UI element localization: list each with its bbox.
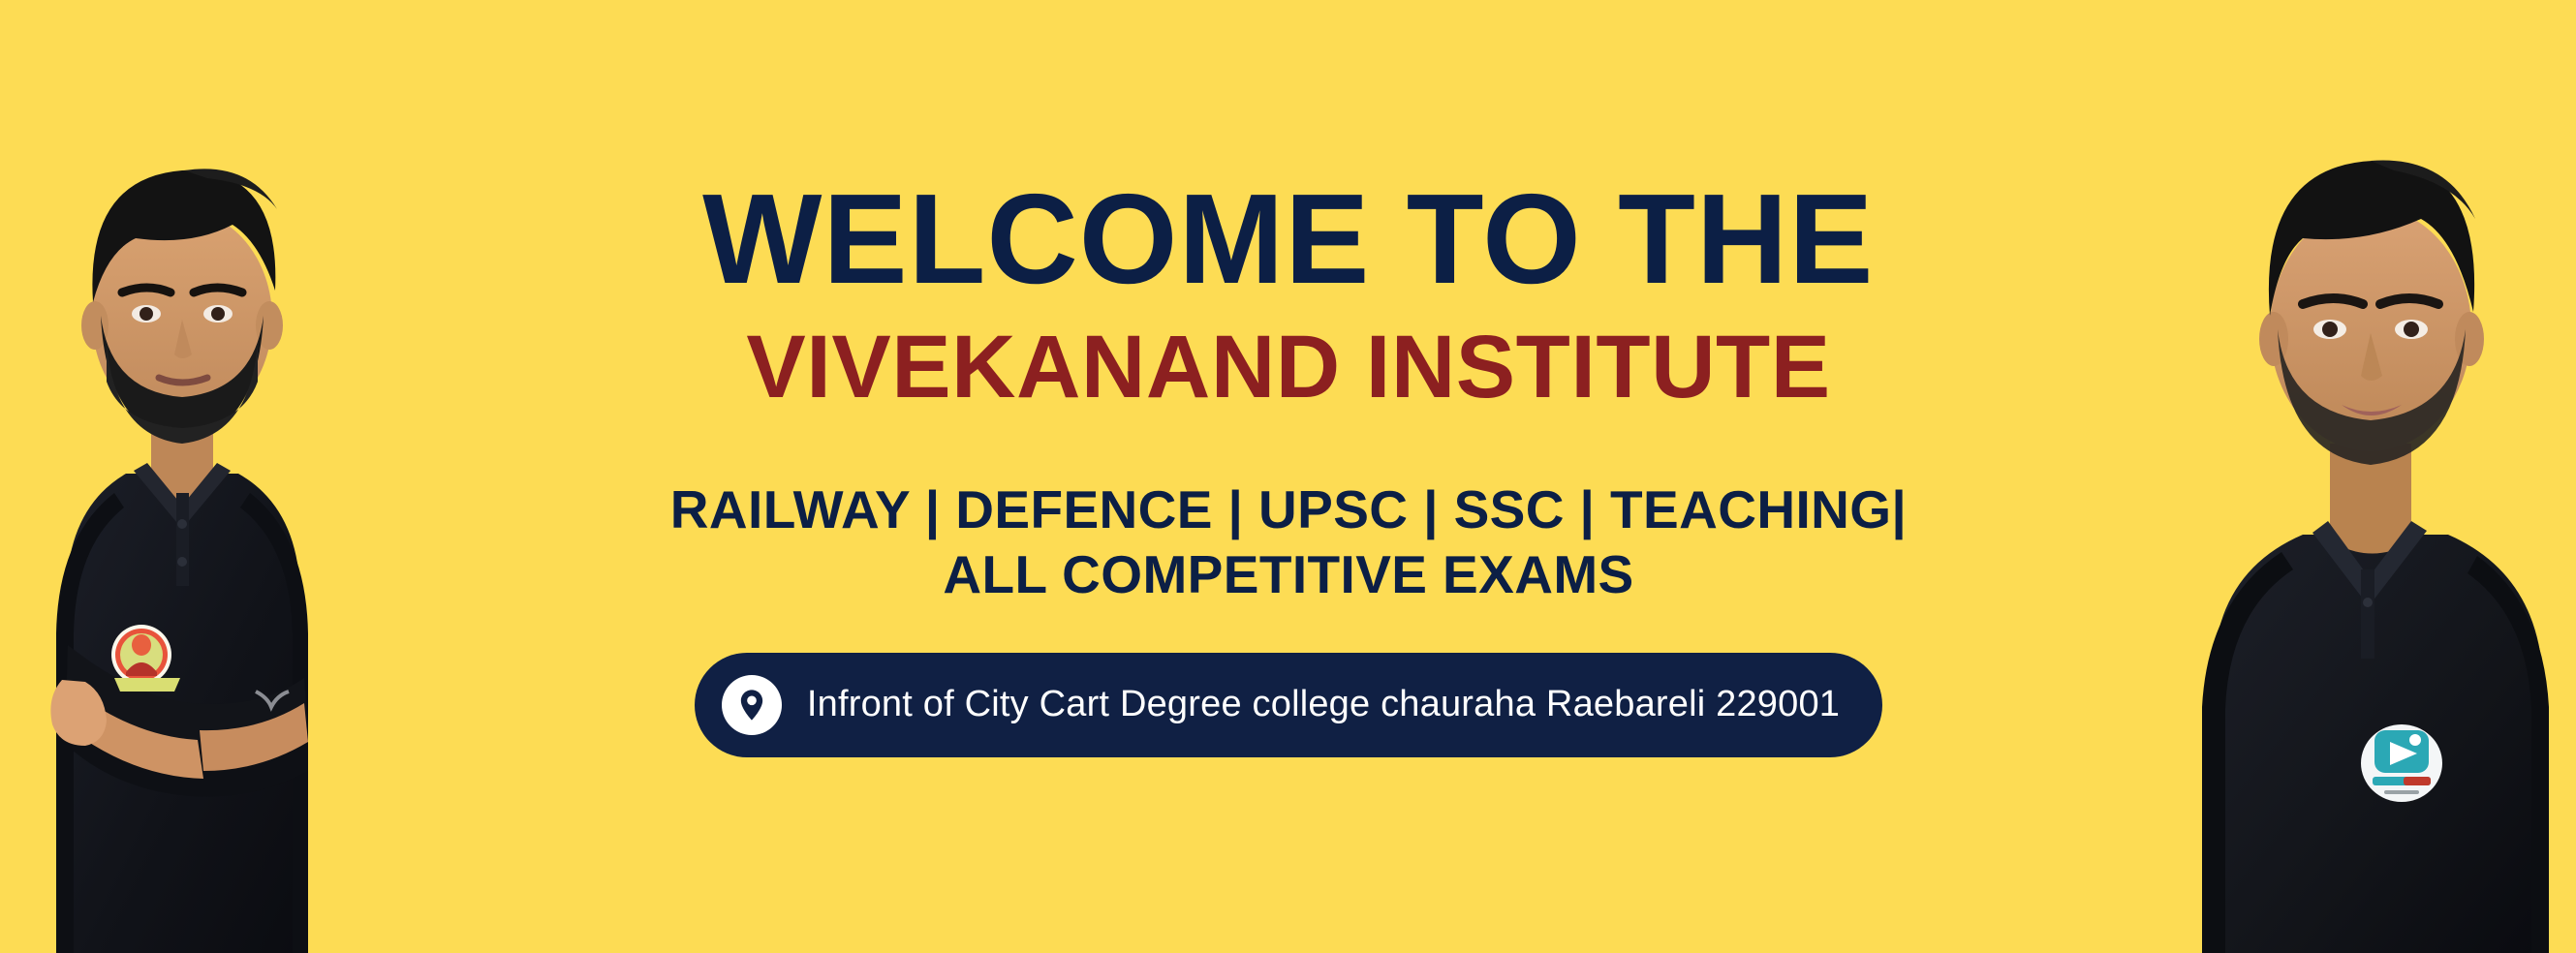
instructor-photo-left xyxy=(17,52,347,953)
location-pin-icon xyxy=(722,675,782,735)
institute-name: VIVEKANAND INSTITUTE xyxy=(746,323,1830,412)
online-classes-play-badge xyxy=(2361,724,2442,802)
exam-categories-line-2: ALL COMPETITIVE EXAMS xyxy=(670,542,1907,607)
address-badge[interactable]: Infront of City Cart Degree college chau… xyxy=(695,653,1882,757)
banner-text-column: WELCOME TO THE VIVEKANAND INSTITUTE RAIL… xyxy=(543,0,2034,953)
vivekanand-logo-badge xyxy=(111,625,180,692)
exam-categories-line-1: RAILWAY | DEFENCE | UPSC | SSC | TEACHIN… xyxy=(670,477,1907,542)
page-title: WELCOME TO THE xyxy=(702,176,1874,301)
instructor-photo-right xyxy=(2157,39,2574,953)
exam-categories: RAILWAY | DEFENCE | UPSC | SSC | TEACHIN… xyxy=(670,477,1907,607)
promo-banner: WELCOME TO THE VIVEKANAND INSTITUTE RAIL… xyxy=(0,0,2576,953)
address-text: Infront of City Cart Degree college chau… xyxy=(807,684,1840,725)
